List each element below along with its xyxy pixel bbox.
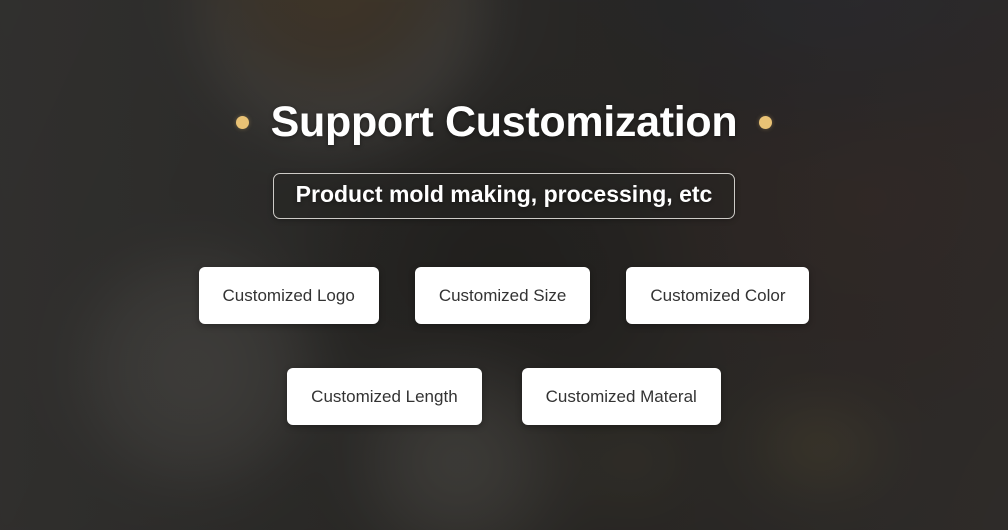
headline-row: Support Customization — [236, 101, 773, 144]
chip-label: Customized Logo — [223, 287, 355, 304]
chip-label: Customized Size — [439, 287, 567, 304]
gold-dot-right-icon — [759, 116, 772, 129]
chip-customized-logo[interactable]: Customized Logo — [199, 267, 379, 324]
chip-label: Customized Length — [311, 388, 457, 405]
chip-customized-size[interactable]: Customized Size — [415, 267, 591, 324]
chip-customized-color[interactable]: Customized Color — [626, 267, 809, 324]
subtitle-box: Product mold making, processing, etc — [273, 173, 736, 219]
chip-label: Customized Color — [650, 287, 785, 304]
customization-options-row-2: Customized Length Customized Materal — [287, 368, 721, 425]
page-title: Support Customization — [271, 101, 738, 144]
gold-dot-left-icon — [236, 116, 249, 129]
chip-customized-length[interactable]: Customized Length — [287, 368, 481, 425]
chip-customized-materal[interactable]: Customized Materal — [522, 368, 721, 425]
banner-content: Support Customization Product mold makin… — [0, 0, 1008, 530]
chip-label: Customized Materal — [546, 388, 697, 405]
customization-options-row-1: Customized Logo Customized Size Customiz… — [199, 267, 810, 324]
subtitle-text: Product mold making, processing, etc — [296, 181, 713, 207]
support-customization-banner: Support Customization Product mold makin… — [0, 0, 1008, 530]
